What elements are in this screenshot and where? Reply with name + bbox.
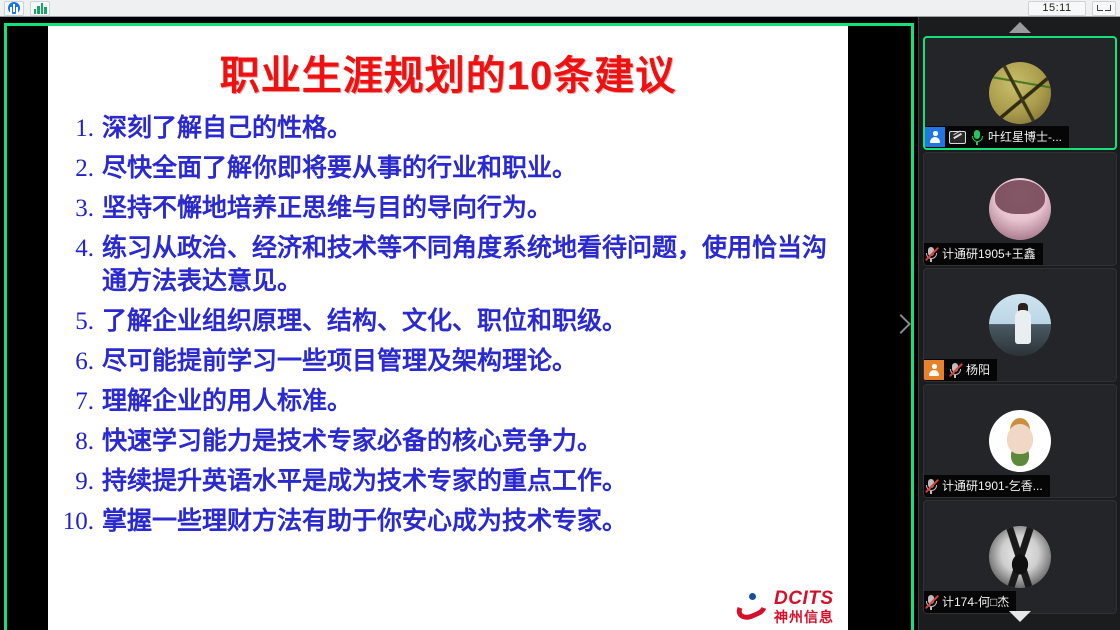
microphone-muted-icon bbox=[924, 594, 938, 610]
list-item-text: 坚持不懈地培养正思维与目的导向行为。 bbox=[102, 192, 552, 225]
signal-bars-icon bbox=[34, 3, 47, 14]
participant-name: 计通研1901-乞香... bbox=[942, 475, 1043, 497]
dcits-logo: DCITS 神州信息 bbox=[736, 589, 834, 624]
participant-name: 计通研1905+王鑫 bbox=[942, 243, 1036, 265]
participants-rail: 叶红星博士-... 计通研1905+王鑫 bbox=[918, 17, 1120, 630]
scroll-down-arrow-icon[interactable] bbox=[1009, 611, 1031, 622]
screen-share-highlight-frame: 职业生涯规划的10条建议 1. 深刻了解自己的性格。 2. 尽快全面了解你即将要… bbox=[4, 23, 914, 630]
list-item: 1. 深刻了解自己的性格。 bbox=[56, 112, 834, 145]
avatar bbox=[989, 62, 1051, 124]
microphone-muted-icon bbox=[924, 478, 938, 494]
person-badge-icon bbox=[925, 127, 945, 147]
list-item-text: 尽快全面了解你即将要从事的行业和职业。 bbox=[102, 152, 577, 185]
list-item-number: 3. bbox=[56, 192, 102, 225]
list-item: 6. 尽可能提前学习一些项目管理及架构理论。 bbox=[56, 345, 834, 378]
list-item: 3. 坚持不懈地培养正思维与目的导向行为。 bbox=[56, 192, 834, 225]
presentation-slide: 职业生涯规划的10条建议 1. 深刻了解自己的性格。 2. 尽快全面了解你即将要… bbox=[48, 26, 848, 630]
list-item-number: 8. bbox=[56, 425, 102, 458]
participant-namebar: 计通研1905+王鑫 bbox=[924, 243, 1043, 265]
clock: 15:11 bbox=[1028, 1, 1086, 16]
participant-name: 计174-何□杰 bbox=[942, 591, 1009, 613]
shared-screen-stage: 职业生涯规划的10条建议 1. 深刻了解自己的性格。 2. 尽快全面了解你即将要… bbox=[0, 17, 918, 630]
participant-tile-list: 叶红星博士-... 计通研1905+王鑫 bbox=[919, 36, 1120, 630]
system-toolbar: 15:11 bbox=[0, 0, 1120, 17]
microphone-muted-icon bbox=[948, 362, 962, 378]
shield-button[interactable] bbox=[4, 1, 24, 16]
list-item: 9. 持续提升英语水平是成为技术专家的重点工作。 bbox=[56, 465, 834, 498]
toolbar-right-group: 15:11 bbox=[1028, 1, 1116, 16]
microphone-muted-icon bbox=[924, 246, 938, 262]
participant-tile[interactable]: 杨阳 bbox=[923, 268, 1117, 382]
list-item: 4. 练习从政治、经济和技术等不同角度系统地看待问题，使用恰当沟通方法表达意见。 bbox=[56, 232, 834, 298]
list-item-number: 7. bbox=[56, 385, 102, 418]
participant-namebar: 杨阳 bbox=[924, 359, 997, 381]
participant-tile[interactable]: 计174-何□杰 bbox=[923, 500, 1117, 614]
avatar bbox=[989, 294, 1051, 356]
list-item-text: 了解企业组织原理、结构、文化、职位和职级。 bbox=[102, 305, 627, 338]
list-item: 2. 尽快全面了解你即将要从事的行业和职业。 bbox=[56, 152, 834, 185]
participant-tile[interactable]: 计通研1905+王鑫 bbox=[923, 152, 1117, 266]
list-item-number: 6. bbox=[56, 345, 102, 378]
list-item-number: 9. bbox=[56, 465, 102, 498]
toolbar-left-group bbox=[4, 1, 50, 16]
list-item-text: 深刻了解自己的性格。 bbox=[102, 112, 352, 145]
list-item-text: 理解企业的用人标准。 bbox=[102, 385, 352, 418]
list-item-text: 练习从政治、经济和技术等不同角度系统地看待问题，使用恰当沟通方法表达意见。 bbox=[102, 232, 834, 298]
list-item-number: 10. bbox=[56, 505, 102, 538]
dcits-swoosh-icon bbox=[736, 592, 770, 622]
shield-icon bbox=[8, 2, 20, 14]
participant-tile[interactable]: 叶红星博士-... bbox=[923, 36, 1117, 150]
dcits-logo-text: DCITS 神州信息 bbox=[774, 589, 834, 624]
participant-namebar: 计通研1901-乞香... bbox=[924, 475, 1050, 497]
meeting-screen-share-window: 15:11 职业生涯规划的10条建议 1. 深刻了解自己的性格。 2. 尽快全面… bbox=[0, 0, 1120, 630]
dcits-logo-en: DCITS bbox=[774, 589, 834, 608]
scroll-up-arrow-icon[interactable] bbox=[1009, 22, 1031, 33]
slide-bullet-list: 1. 深刻了解自己的性格。 2. 尽快全面了解你即将要从事的行业和职业。 3. … bbox=[48, 112, 848, 538]
list-item-number: 1. bbox=[56, 112, 102, 145]
microphone-on-icon bbox=[970, 129, 984, 145]
list-item-text: 尽可能提前学习一些项目管理及架构理论。 bbox=[102, 345, 577, 378]
signal-button[interactable] bbox=[30, 1, 50, 16]
list-item-number: 2. bbox=[56, 152, 102, 185]
slide-title: 职业生涯规划的10条建议 bbox=[48, 26, 848, 96]
list-item: 10. 掌握一些理财方法有助于你安心成为技术专家。 bbox=[56, 505, 834, 538]
screen-share-icon bbox=[949, 131, 966, 144]
list-item-text: 持续提升英语水平是成为技术专家的重点工作。 bbox=[102, 465, 627, 498]
avatar bbox=[989, 178, 1051, 240]
list-item-text: 掌握一些理财方法有助于你安心成为技术专家。 bbox=[102, 505, 627, 538]
list-item-text: 快速学习能力是技术专家必备的核心竞争力。 bbox=[102, 425, 602, 458]
list-item: 5. 了解企业组织原理、结构、文化、职位和职级。 bbox=[56, 305, 834, 338]
list-item-number: 4. bbox=[56, 232, 102, 265]
participant-namebar: 叶红星博士-... bbox=[925, 126, 1069, 148]
list-item-number: 5. bbox=[56, 305, 102, 338]
person-badge-icon bbox=[924, 360, 944, 380]
participant-name: 杨阳 bbox=[966, 359, 990, 381]
participant-name: 叶红星博士-... bbox=[988, 126, 1062, 148]
participant-tile[interactable]: 计通研1901-乞香... bbox=[923, 384, 1117, 498]
dcits-logo-cn: 神州信息 bbox=[774, 610, 834, 624]
participant-namebar: 计174-何□杰 bbox=[924, 591, 1016, 613]
fullscreen-exit-icon[interactable] bbox=[1092, 1, 1116, 16]
list-item: 7. 理解企业的用人标准。 bbox=[56, 385, 834, 418]
avatar bbox=[989, 526, 1051, 588]
list-item: 8. 快速学习能力是技术专家必备的核心竞争力。 bbox=[56, 425, 834, 458]
avatar bbox=[989, 410, 1051, 472]
